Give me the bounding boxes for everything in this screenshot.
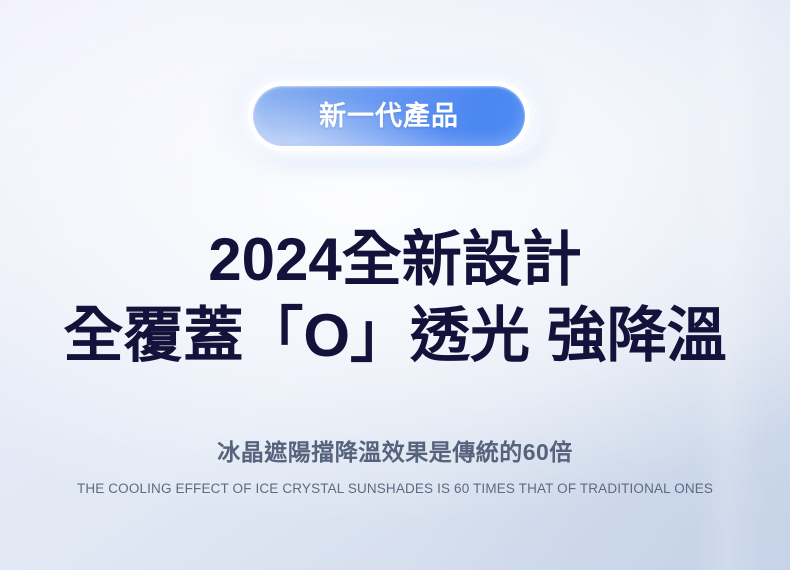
headline-line-2: 全覆蓋「O」透光 強降溫 [63,304,726,368]
new-generation-badge: 新一代產品 [253,86,537,156]
headline-block: 2024全新設計 全覆蓋「O」透光 強降溫 [63,228,726,367]
banner-content: 新一代產品 2024全新設計 全覆蓋「O」透光 強降溫 冰晶遮陽擋降溫效果是傳統… [0,0,790,570]
badge-pill: 新一代產品 [253,86,525,146]
headline-line-1: 2024全新設計 [63,228,726,292]
hero-banner: 新一代產品 2024全新設計 全覆蓋「O」透光 強降溫 冰晶遮陽擋降溫效果是傳統… [0,0,790,570]
subtitle-english: THE COOLING EFFECT OF ICE CRYSTAL SUNSHA… [77,481,713,496]
badge-label: 新一代產品 [319,103,459,130]
subtitle-chinese: 冰晶遮陽擋降溫效果是傳統的60倍 [217,433,573,467]
